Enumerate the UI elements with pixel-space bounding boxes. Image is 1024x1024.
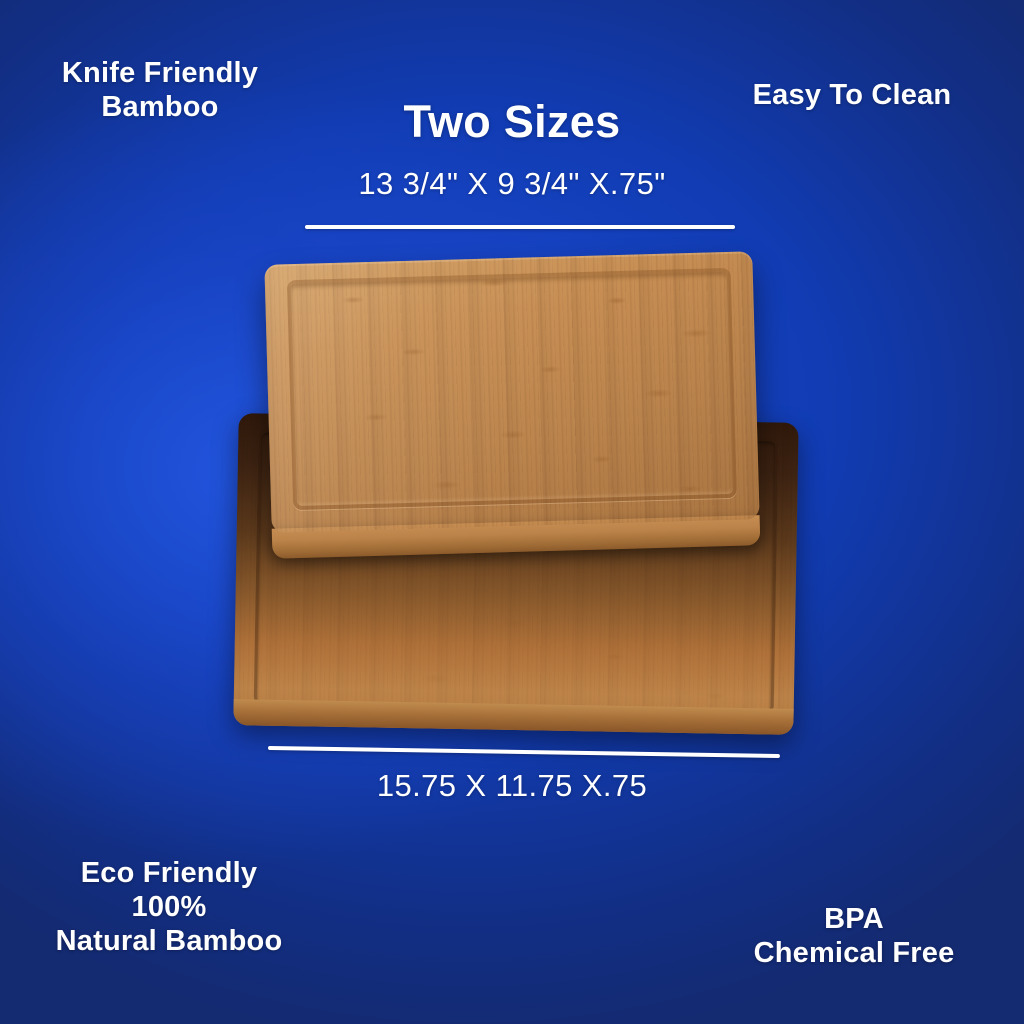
feature-bottom-right-line-1: BPA xyxy=(704,902,1004,936)
feature-bottom-right: BPA Chemical Free xyxy=(704,902,1004,970)
feature-bottom-left-line-3: Natural Bamboo xyxy=(14,924,324,958)
dimension-label-large-board: 15.75 X 11.75 X.75 xyxy=(0,768,1024,804)
dimension-rule-large-board xyxy=(268,746,780,758)
wood-grain-texture xyxy=(264,251,759,533)
juice-groove-small xyxy=(287,268,737,510)
dimension-rule-small-board xyxy=(305,225,735,229)
board-edge-large xyxy=(233,699,793,735)
page-title: Two Sizes xyxy=(0,96,1024,148)
feature-top-left-line-1: Knife Friendly xyxy=(10,56,310,90)
feature-bottom-left: Eco Friendly 100% Natural Bamboo xyxy=(14,856,324,959)
product-infographic: Knife Friendly Bamboo Easy To Clean Two … xyxy=(0,0,1024,1024)
large-bamboo-cutting-board xyxy=(233,413,798,735)
feature-bottom-left-line-1: Eco Friendly xyxy=(14,856,324,890)
feature-bottom-left-line-2: 100% xyxy=(14,890,324,924)
small-bamboo-cutting-board xyxy=(264,251,759,533)
feature-bottom-right-line-2: Chemical Free xyxy=(704,936,1004,970)
wood-node-flecks xyxy=(264,251,759,533)
board-edge-small xyxy=(272,515,761,559)
juice-groove-large xyxy=(254,429,779,714)
surface-sheen xyxy=(264,251,759,533)
wood-node-flecks xyxy=(233,413,798,735)
wood-grain-texture xyxy=(233,413,798,735)
dimension-label-small-board: 13 3/4" X 9 3/4" X.75" xyxy=(0,166,1024,202)
